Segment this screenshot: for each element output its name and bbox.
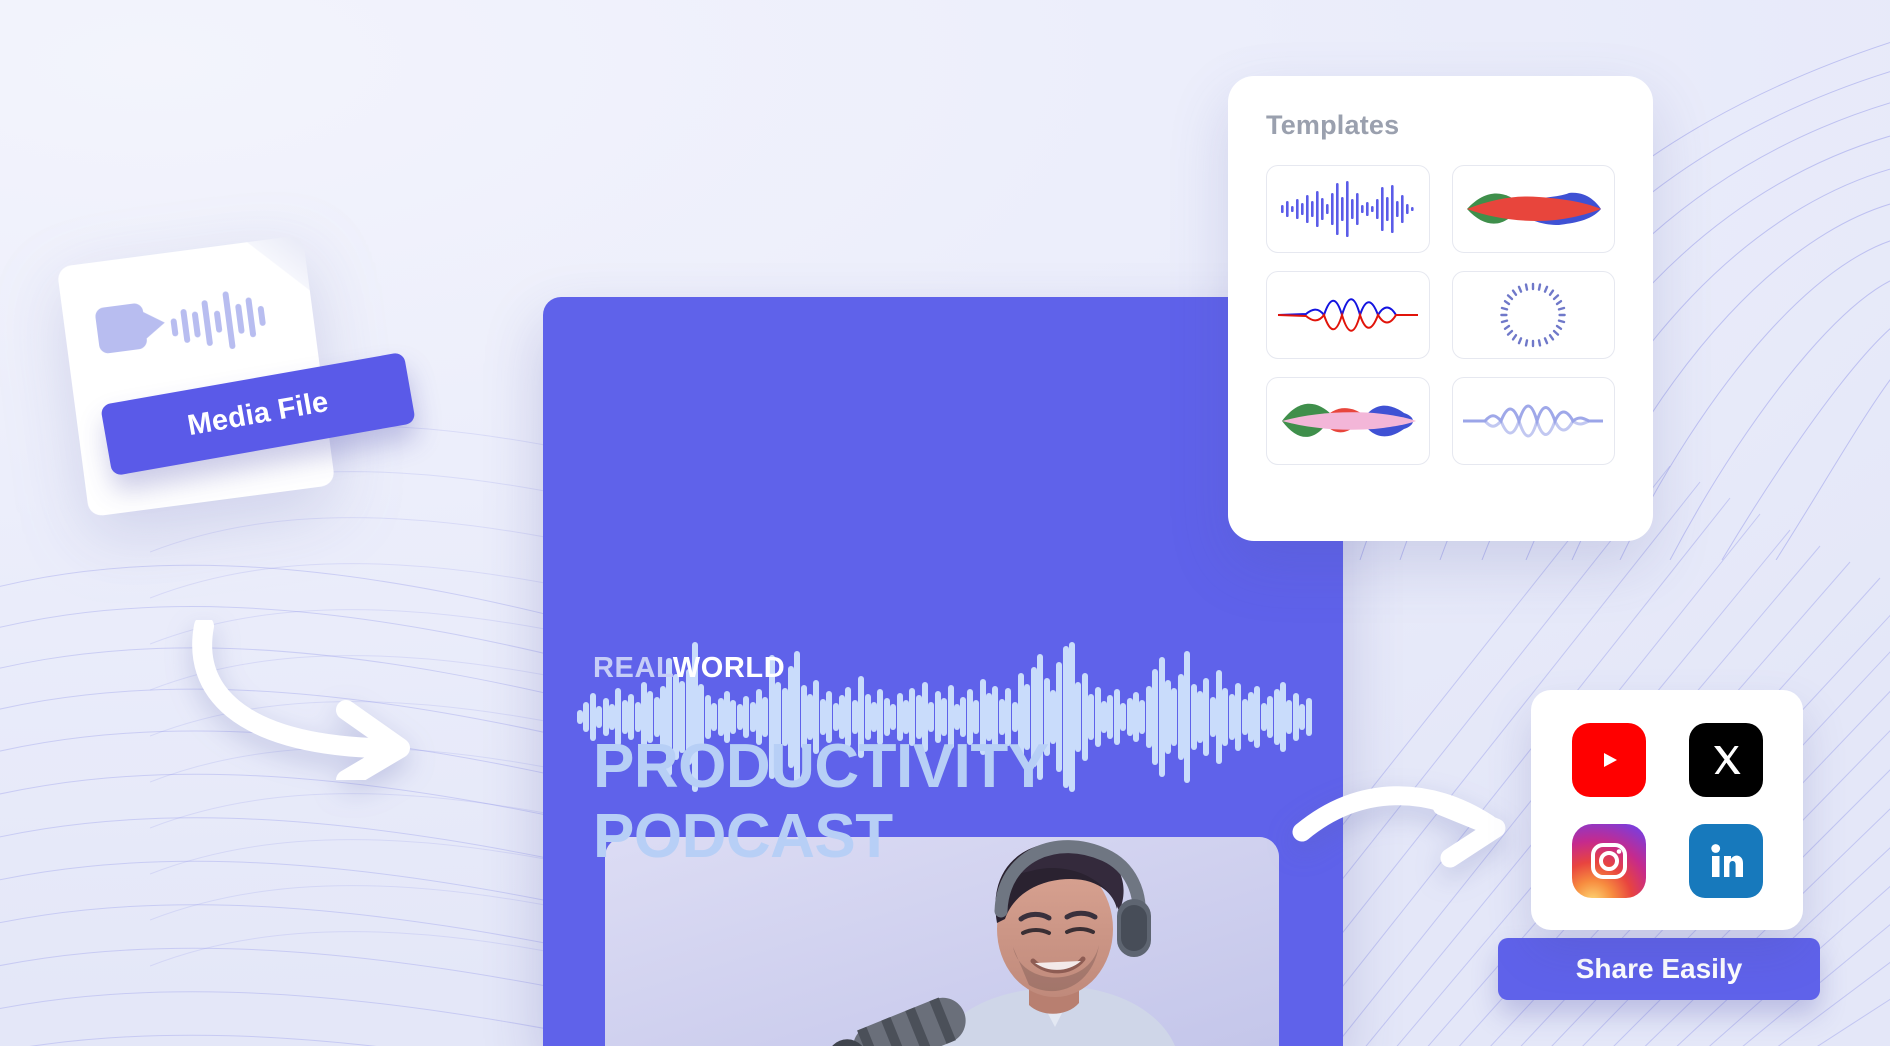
page-title: PRODUCTIVITY PODCAST bbox=[593, 732, 1233, 872]
youtube-icon[interactable] bbox=[1572, 723, 1646, 797]
linkedin-icon[interactable] bbox=[1689, 824, 1763, 898]
video-camera-icon bbox=[94, 300, 167, 354]
x-twitter-icon[interactable] bbox=[1689, 723, 1763, 797]
template-circular[interactable] bbox=[1452, 271, 1616, 359]
templates-panel[interactable]: Templates bbox=[1228, 76, 1653, 541]
template-soft-oscillation[interactable] bbox=[1452, 377, 1616, 465]
brand-first-word: REAL bbox=[593, 652, 673, 684]
templates-grid bbox=[1266, 165, 1615, 465]
brand-second-word: WORLD bbox=[673, 652, 786, 684]
waveform-icon bbox=[167, 280, 279, 363]
share-easily-banner: Share Easily bbox=[1498, 938, 1820, 1000]
template-layered-blob[interactable] bbox=[1266, 377, 1430, 465]
template-dual-line[interactable] bbox=[1266, 271, 1430, 359]
canvas: Media File REALWORLD PRODUCTIVITY PODCAS… bbox=[0, 0, 1890, 1046]
instagram-icon[interactable] bbox=[1572, 824, 1646, 898]
podcast-preview-panel[interactable]: REALWORLD PRODUCTIVITY PODCAST bbox=[543, 297, 1343, 1046]
brand-logo: REALWORLD bbox=[593, 652, 785, 685]
templates-title: Templates bbox=[1266, 110, 1615, 141]
template-color-blob[interactable] bbox=[1452, 165, 1616, 253]
share-easily-label: Share Easily bbox=[1576, 953, 1743, 985]
template-bar-waveform[interactable] bbox=[1266, 165, 1430, 253]
social-share-card[interactable] bbox=[1531, 690, 1803, 930]
curved-arrow-left-to-panel bbox=[186, 620, 466, 780]
media-file-label: Media File bbox=[185, 385, 331, 442]
